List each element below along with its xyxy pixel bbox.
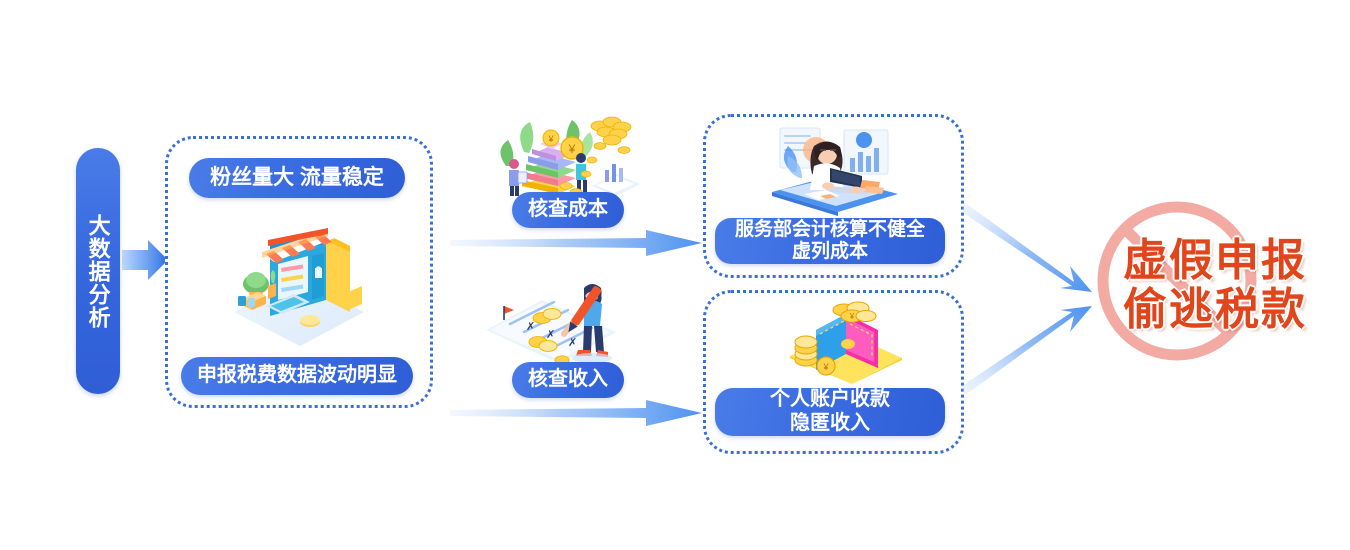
storefront-icon	[222, 200, 374, 352]
pill-finding-cost: 服务部会计核算不健全 虚列成本	[715, 218, 945, 264]
result-line-1: 虚假申报	[1123, 236, 1307, 285]
stage-big-data-analysis-label: 大数据分析	[84, 214, 111, 329]
arrow-income-to-finding	[450, 398, 704, 428]
svg-text:✗: ✗	[526, 321, 535, 333]
result-line-2: 偷逃税款	[1123, 285, 1307, 334]
svg-text:✗: ✗	[546, 329, 555, 341]
stage-big-data-analysis: 大数据分析	[76, 148, 120, 394]
arrow-cost-to-finding	[450, 228, 704, 258]
pill-verify-cost: 核查成本	[512, 192, 624, 228]
pill-finding-income: 个人账户收款 隐匿收入	[715, 388, 945, 436]
infographic-canvas: 大数据分析 粉丝量大 流量稳定	[0, 0, 1350, 550]
books-coins-chart-icon: ¥ ¥	[488, 100, 646, 200]
arrow-bigdata-to-merchant	[122, 238, 170, 282]
arrow-finding-cost-to-result	[962, 196, 1102, 306]
result-conclusion: 虚假申报 偷逃税款	[1090, 225, 1340, 345]
woman-laptop-charts-icon	[758, 124, 906, 216]
svg-text:✗: ✗	[568, 337, 577, 349]
svg-text:¥: ¥	[822, 362, 829, 372]
pill-declaration-fluctuation: 申报税费数据波动明显	[181, 357, 413, 395]
svg-text:¥: ¥	[849, 312, 855, 321]
pill-fans-traffic: 粉丝量大 流量稳定	[189, 158, 405, 198]
person-checklist-coins-icon: ✗ ✗ ✗	[480, 268, 640, 372]
arrow-finding-income-to-result	[962, 292, 1102, 402]
svg-text:¥: ¥	[568, 142, 576, 156]
wallet-coins-icon: ¥ ¥	[782, 296, 910, 384]
pill-verify-income: 核查收入	[512, 362, 624, 398]
svg-text:¥: ¥	[547, 134, 554, 144]
